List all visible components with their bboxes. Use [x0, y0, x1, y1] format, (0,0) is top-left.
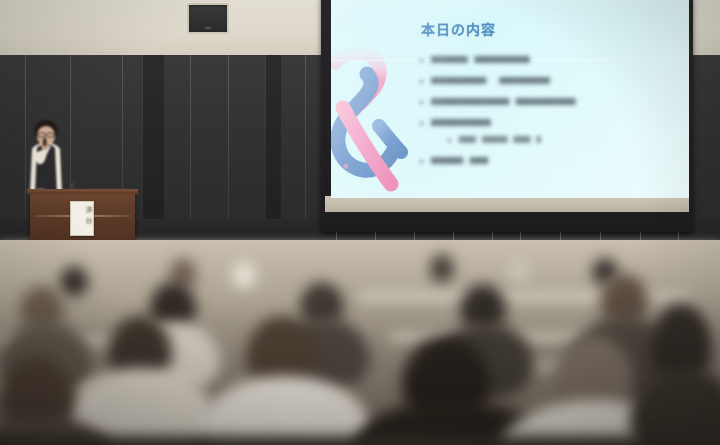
slide-bullet: ████████ ████████████: [419, 56, 677, 64]
lecture-hall-photo: 本日の内容 ████████ ████████████ ████████████…: [0, 0, 720, 445]
slide-sub-bullet: ████ ██████ ████ █: [447, 136, 677, 144]
ampersand-ribbon-logo: [331, 48, 417, 193]
podium: 演台: [30, 193, 135, 245]
screen-bottom-tray: [325, 196, 689, 212]
slide-title: 本日の内容: [421, 20, 496, 40]
slide-bullet: ████████████ ███████████: [419, 77, 677, 85]
ceiling-speaker-icon: [187, 3, 229, 34]
presentation-slide: 本日の内容 ████████ ████████████ ████████████…: [331, 0, 689, 198]
audience-area: [0, 240, 720, 445]
podium-placard: 演台: [70, 201, 94, 236]
slide-bullet: █████████████: [419, 119, 677, 127]
slide-bullet: ███████ ████: [419, 157, 677, 165]
podium-placard-text: 演台: [71, 206, 93, 228]
slide-bullet: █████████████████ █████████████: [419, 98, 677, 106]
podium-top-edge: [27, 189, 138, 194]
slide-bullet-list: ████████ ████████████ ████████████ █████…: [419, 56, 677, 178]
